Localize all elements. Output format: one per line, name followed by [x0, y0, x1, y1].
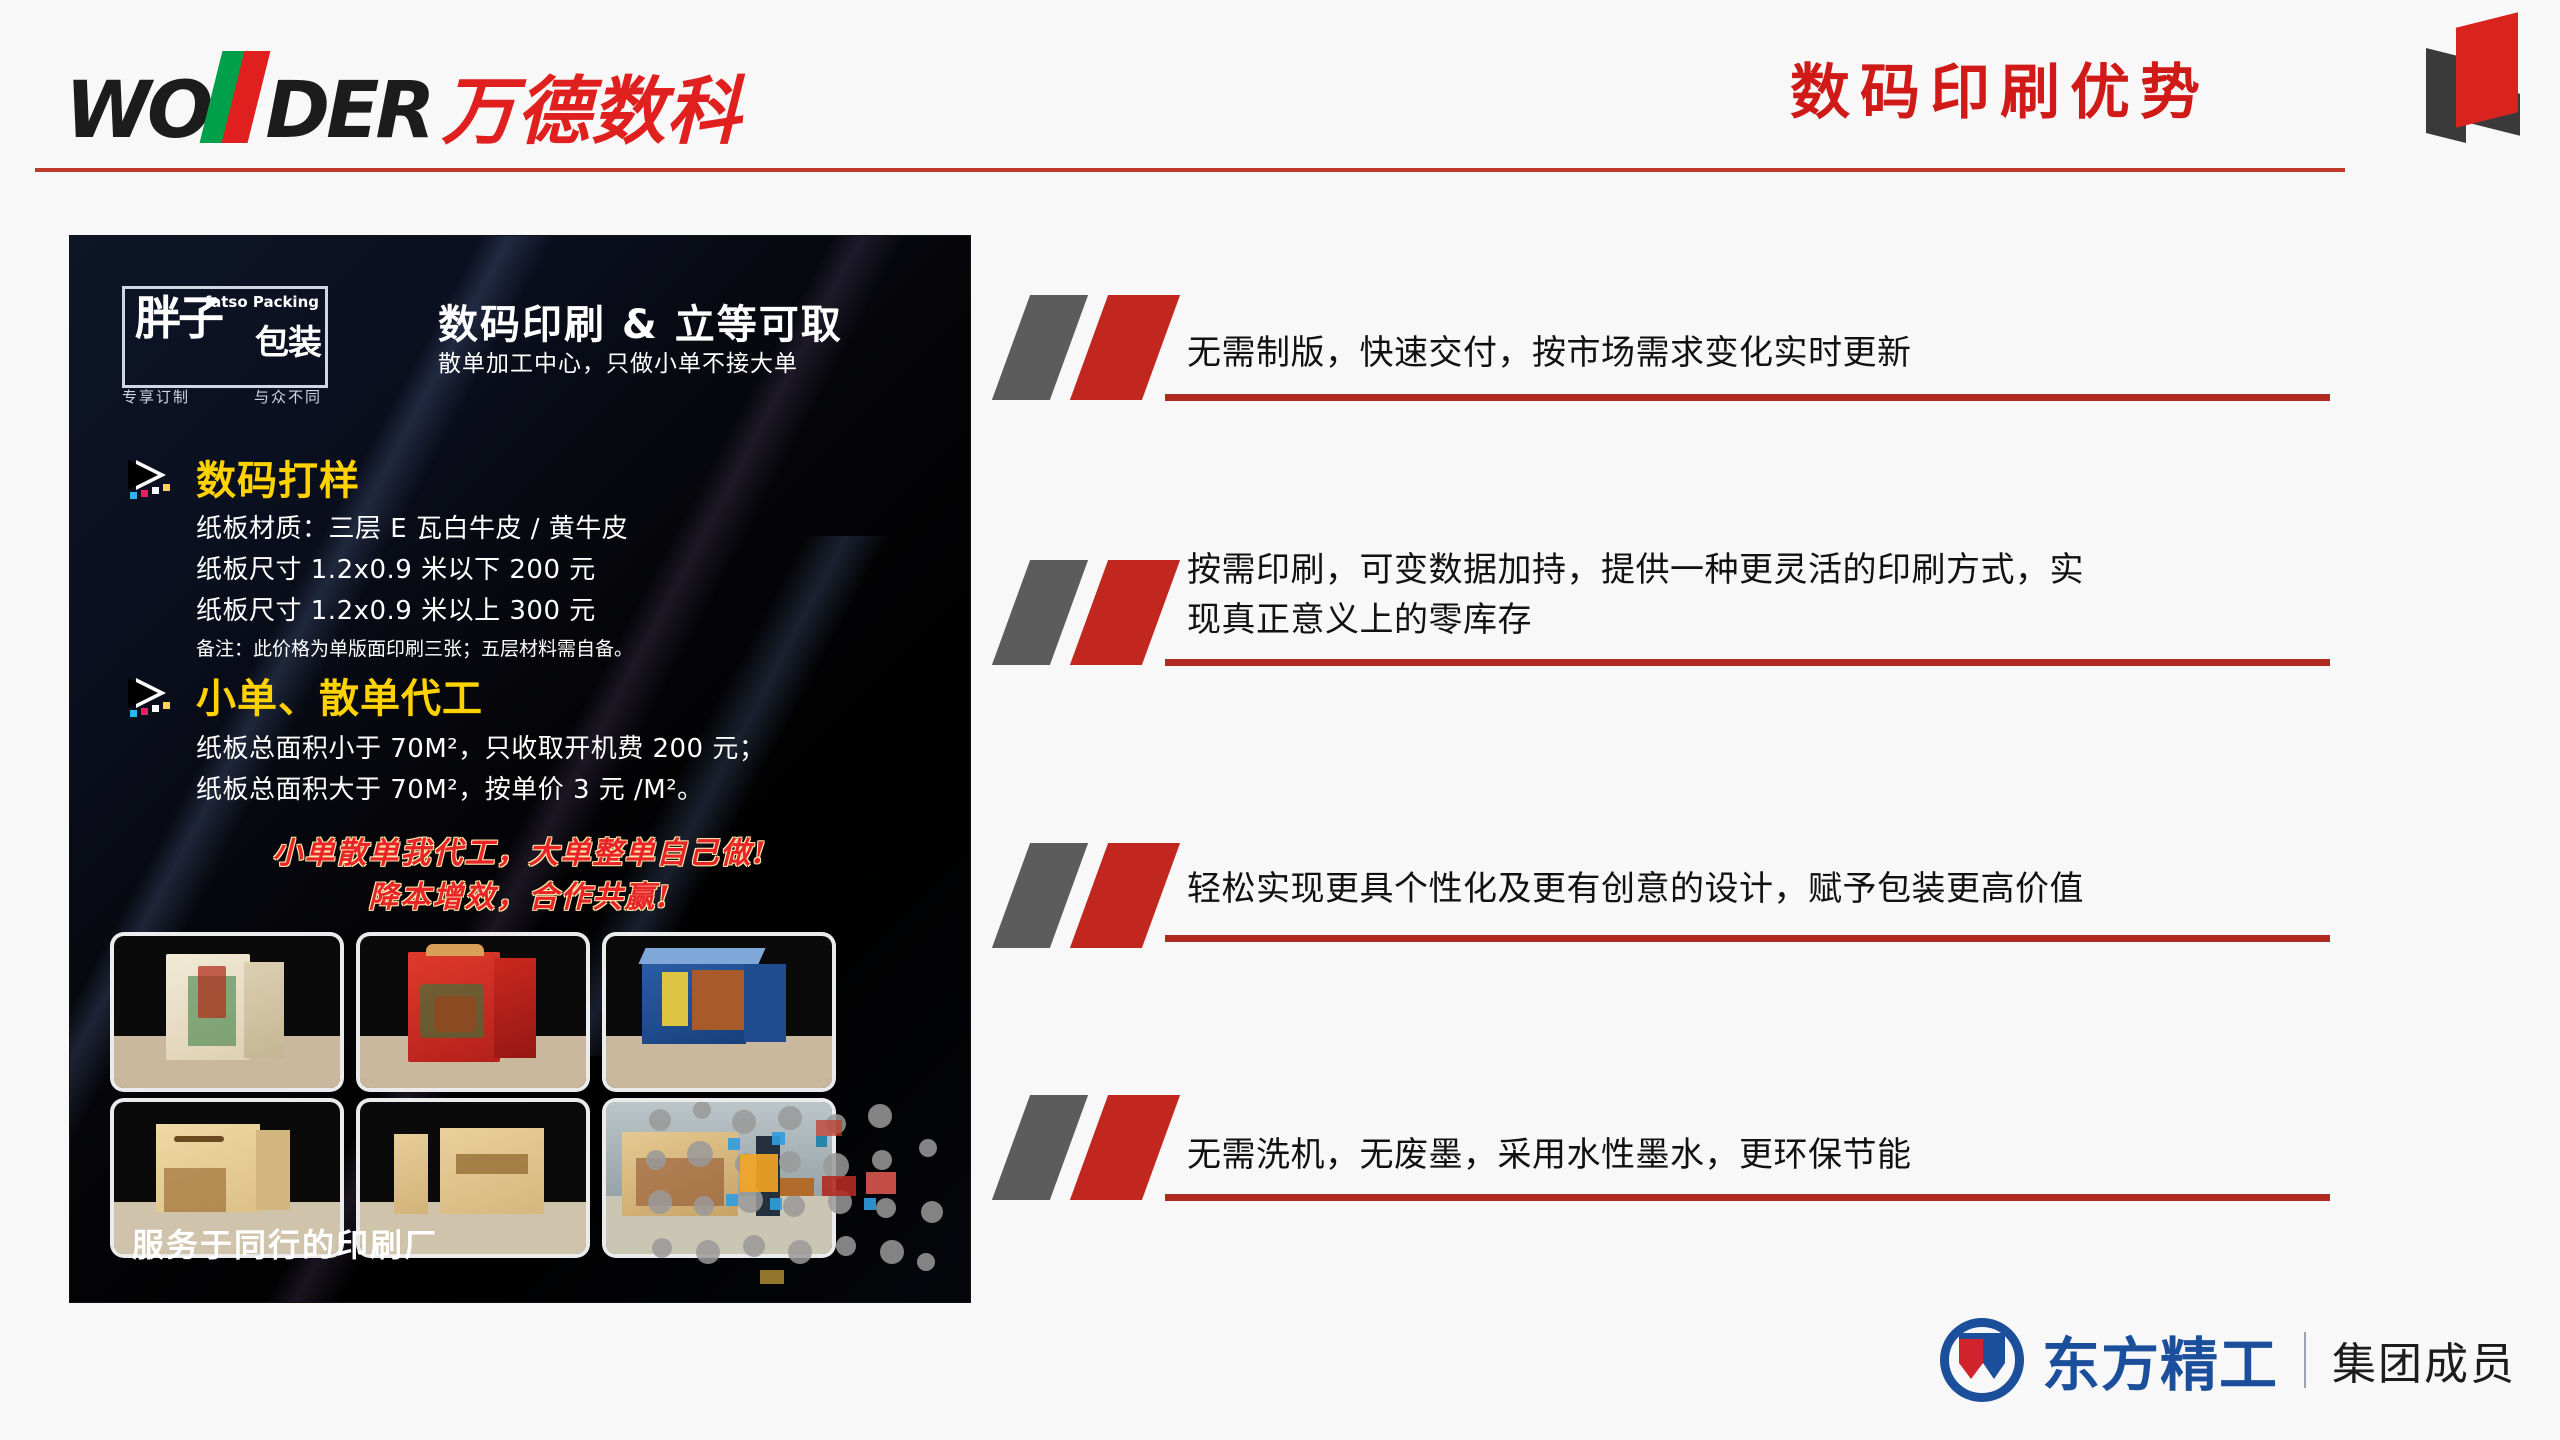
logo-text-chinese: 万德数科 [441, 52, 741, 159]
bullet-text-4: 无需洗机，无废墨，采用水性墨水，更环保节能 [1187, 1131, 2407, 1179]
poster-brand-tagline-left: 专享订制 [122, 386, 190, 407]
bullet-item-4: 无需洗机，无废墨，采用水性墨水，更环保节能 [1005, 1095, 2405, 1235]
bullet-marker-icon-3 [1005, 843, 1205, 948]
poster-section-title-2: 小单、散单代工 [196, 666, 483, 724]
poster-product-photo-2 [360, 936, 586, 1088]
poster-brand-tagline-right: 与众不同 [254, 386, 322, 407]
wonder-logo: WO DER 万德数科 [65, 52, 741, 159]
logo-text-der: DER [265, 66, 431, 156]
bullet-marker-icon-4 [1005, 1095, 1205, 1200]
poster-product-photo-3 [606, 936, 832, 1088]
logo-text-wo: WO [65, 66, 209, 156]
bullet-item-1: 无需制版，快速交付，按市场需求变化实时更新 [1005, 295, 2405, 435]
poster-brand-logo: 胖子 fatso Packing 包装 [122, 286, 328, 388]
poster-section-title-1: 数码打样 [196, 448, 360, 506]
bullet-underline-4 [1165, 1194, 2330, 1201]
bullet-text-2-line-1: 按需印刷，可变数据加持，提供一种更灵活的印刷方式，实 [1187, 546, 2407, 594]
bullet-marker-icon-2 [1005, 560, 1205, 665]
header-divider [35, 168, 2345, 172]
bullet-text-2-line-2: 现真正意义上的零库存 [1187, 596, 2407, 644]
logo-letter-n-icon [211, 59, 263, 137]
slide-header: WO DER 万德数科 数码印刷优势 [0, 0, 2560, 185]
bullet-underline-2 [1165, 659, 2330, 666]
poster-brand-en: fatso Packing [205, 293, 319, 311]
footer-company-name: 东方精工 [2042, 1318, 2278, 1402]
poster-brand-tagline: 专享订制 与众不同 [122, 386, 322, 407]
bullet-marker-icon-1 [1005, 295, 1205, 400]
poster-footer-text: 服务于同行的印刷厂 [132, 1220, 438, 1266]
bullet-item-2: 按需印刷，可变数据加持，提供一种更灵活的印刷方式，实 现真正意义上的零库存 [1005, 560, 2405, 720]
poster-section-1-note: 备注：此价格为单版面印刷三张；五层材料需自备。 [196, 634, 633, 661]
footer-member-label: 集团成员 [2332, 1328, 2516, 1392]
poster-brand-pack: 包装 [255, 315, 321, 364]
bullet-underline-1 [1165, 394, 2330, 401]
footer-divider [2304, 1332, 2306, 1388]
poster-product-photo-1 [114, 936, 340, 1088]
bullet-underline-3 [1165, 935, 2330, 942]
poster-slogan-line-1: 小单散单我代工，大单整单自己做! [70, 828, 970, 872]
bullet-text-3: 轻松实现更具个性化及更有创意的设计，赋予包装更高价值 [1187, 865, 2407, 913]
poster-section-1-line-1: 纸板材质：三层 E 瓦白牛皮 / 黄牛皮 [196, 508, 628, 545]
corner-mark-icon [2418, 8, 2538, 148]
poster-section-1-line-2: 纸板尺寸 1.2x0.9 米以下 200 元 [196, 549, 596, 586]
footer-company-logo: 东方精工 集团成员 [1940, 1318, 2516, 1402]
promo-poster-image: 胖子 fatso Packing 包装 专享订制 与众不同 数码印刷 & 立等可… [70, 236, 970, 1302]
poster-section-1-line-3: 纸板尺寸 1.2x0.9 米以上 300 元 [196, 590, 596, 627]
poster-subheadline: 散单加工中心，只做小单不接大单 [438, 344, 798, 378]
dongfang-emblem-icon [1940, 1318, 2024, 1402]
section-arrow-icon-1 [128, 458, 190, 508]
poster-slogan-line-2: 降本增效，合作共赢! [70, 872, 970, 916]
poster-section-2-line-2: 纸板总面积大于 70M²，按单价 3 元 /M²。 [196, 769, 704, 806]
section-arrow-icon-2 [128, 676, 190, 726]
poster-section-2-line-1: 纸板总面积小于 70M²，只收取开机费 200 元； [196, 728, 765, 765]
page-title: 数码印刷优势 [1790, 44, 2210, 131]
bullet-item-3: 轻松实现更具个性化及更有创意的设计，赋予包装更高价值 [1005, 843, 2405, 983]
poster-headline: 数码印刷 & 立等可取 [438, 292, 843, 350]
bullet-text-1: 无需制版，快速交付，按市场需求变化实时更新 [1187, 329, 2387, 377]
dot-pattern-decoration [640, 1102, 970, 1302]
